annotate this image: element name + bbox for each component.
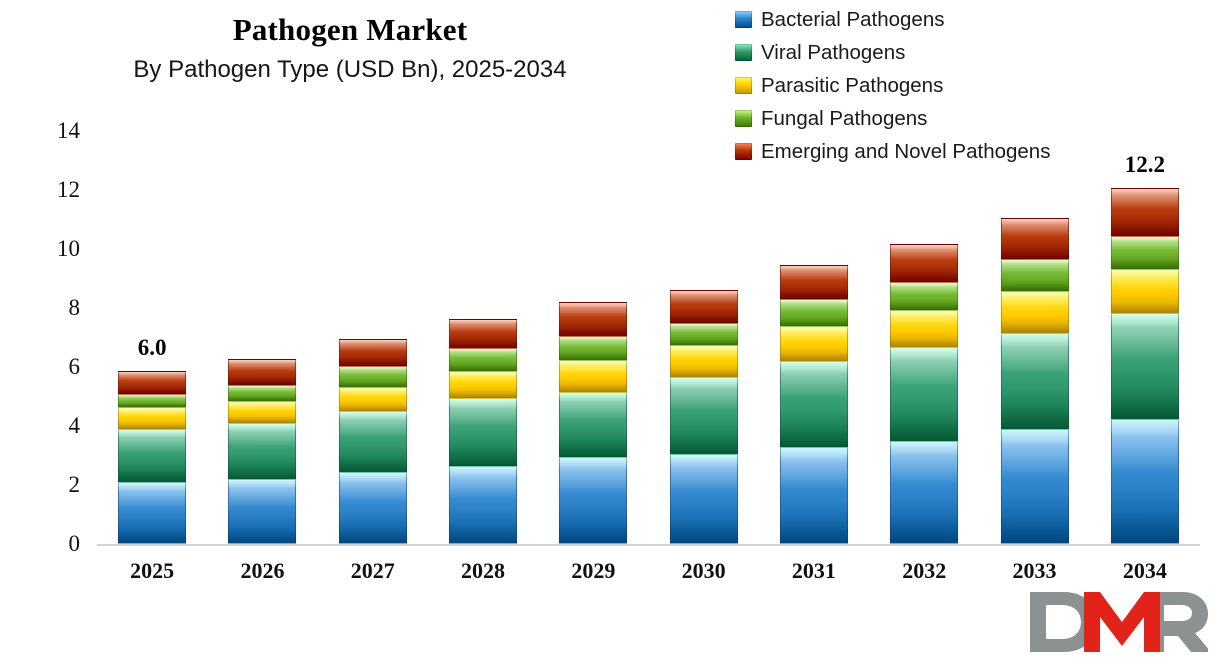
legend-label: Bacterial Pathogens bbox=[761, 8, 944, 32]
plot-area: 6.012.2 bbox=[97, 131, 1200, 544]
x-axis-tick-label: 2034 bbox=[1090, 558, 1200, 584]
bar-segment[interactable] bbox=[228, 385, 296, 403]
y-axis-tick-label: 8 bbox=[20, 295, 80, 321]
bar-segment[interactable] bbox=[118, 482, 186, 544]
bar-column[interactable] bbox=[869, 131, 979, 544]
bar-segment[interactable] bbox=[228, 479, 296, 544]
bar-segment[interactable] bbox=[339, 411, 407, 473]
bar-segment[interactable] bbox=[780, 265, 848, 300]
bar-column[interactable] bbox=[318, 131, 428, 544]
bar-segment[interactable] bbox=[449, 371, 517, 399]
legend-item[interactable]: Bacterial Pathogens bbox=[735, 8, 1050, 31]
bar-segment[interactable] bbox=[780, 361, 848, 448]
bar-segment[interactable] bbox=[339, 366, 407, 388]
bar-segment[interactable] bbox=[1111, 269, 1179, 315]
x-axis-tick-label: 2029 bbox=[538, 558, 648, 584]
bar-segment[interactable] bbox=[670, 323, 738, 347]
bar-segment[interactable] bbox=[1001, 333, 1069, 430]
stacked-bar[interactable] bbox=[449, 320, 517, 544]
legend-label: Viral Pathogens bbox=[761, 41, 905, 65]
bar-column[interactable] bbox=[207, 131, 317, 544]
bar-column[interactable]: 6.0 bbox=[97, 131, 207, 544]
bar-segment[interactable] bbox=[339, 339, 407, 367]
legend-swatch-icon bbox=[735, 44, 752, 61]
bar-segment[interactable] bbox=[449, 466, 517, 544]
bar-segment[interactable] bbox=[1111, 313, 1179, 419]
bar-column[interactable] bbox=[980, 131, 1090, 544]
bar-column[interactable] bbox=[538, 131, 648, 544]
bar-segment[interactable] bbox=[780, 447, 848, 544]
stacked-bar[interactable] bbox=[1001, 219, 1069, 544]
stacked-bar[interactable] bbox=[670, 291, 738, 544]
bar-column[interactable] bbox=[649, 131, 759, 544]
bar-segment[interactable] bbox=[670, 454, 738, 544]
bar-segment[interactable] bbox=[780, 326, 848, 361]
x-axis-tick-label: 2025 bbox=[97, 558, 207, 584]
bar-segment[interactable] bbox=[1001, 218, 1069, 261]
bar-segment[interactable] bbox=[449, 348, 517, 372]
bar-segment[interactable] bbox=[670, 290, 738, 324]
bar-segment[interactable] bbox=[559, 336, 627, 361]
legend-swatch-icon bbox=[735, 11, 752, 28]
y-axis-tick-label: 4 bbox=[20, 413, 80, 439]
bar-segment[interactable] bbox=[228, 401, 296, 423]
bar-segment[interactable] bbox=[780, 299, 848, 327]
legend-label: Fungal Pathogens bbox=[761, 107, 927, 131]
bar-column[interactable]: 12.2 bbox=[1090, 131, 1200, 544]
bar-segment[interactable] bbox=[1111, 419, 1179, 544]
chart-title: Pathogen Market bbox=[0, 12, 700, 48]
legend-item[interactable]: Fungal Pathogens bbox=[735, 107, 1050, 130]
bar-segment[interactable] bbox=[1001, 291, 1069, 334]
bar-segment[interactable] bbox=[890, 310, 958, 348]
y-axis-tick-label: 0 bbox=[20, 531, 80, 557]
x-axis-line bbox=[97, 544, 1200, 546]
bar-segment[interactable] bbox=[118, 394, 186, 409]
bar-group: 6.012.2 bbox=[97, 131, 1200, 544]
stacked-bar[interactable] bbox=[890, 245, 958, 544]
x-axis-tick-label: 2027 bbox=[318, 558, 428, 584]
y-axis-tick-label: 12 bbox=[20, 177, 80, 203]
bar-segment[interactable] bbox=[890, 441, 958, 544]
bar-segment[interactable] bbox=[228, 423, 296, 481]
bar-segment[interactable] bbox=[670, 345, 738, 377]
legend-item[interactable]: Viral Pathogens bbox=[735, 41, 1050, 64]
bar-segment[interactable] bbox=[559, 457, 627, 544]
legend-item[interactable]: Parasitic Pathogens bbox=[735, 74, 1050, 97]
legend-swatch-icon bbox=[735, 110, 752, 127]
bar-column[interactable] bbox=[759, 131, 869, 544]
bar-segment[interactable] bbox=[118, 371, 186, 395]
bar-value-label: 12.2 bbox=[1125, 152, 1165, 178]
x-axis-label-group: 2025202620272028202920302031203220332034 bbox=[97, 556, 1200, 586]
bar-segment[interactable] bbox=[449, 319, 517, 349]
bar-segment[interactable] bbox=[1001, 259, 1069, 291]
bar-segment[interactable] bbox=[1001, 429, 1069, 544]
bar-segment[interactable] bbox=[559, 392, 627, 458]
bar-segment[interactable] bbox=[228, 359, 296, 386]
x-axis-tick-label: 2032 bbox=[869, 558, 979, 584]
y-axis-tick-label: 2 bbox=[20, 472, 80, 498]
bar-segment[interactable] bbox=[1111, 188, 1179, 237]
y-axis-tick-label: 6 bbox=[20, 354, 80, 380]
stacked-bar[interactable] bbox=[780, 266, 848, 544]
chart-subtitle: By Pathogen Type (USD Bn), 2025-2034 bbox=[0, 56, 700, 84]
stacked-bar[interactable] bbox=[1111, 189, 1179, 544]
bar-segment[interactable] bbox=[670, 377, 738, 455]
bar-segment[interactable] bbox=[890, 347, 958, 441]
bar-segment[interactable] bbox=[1111, 236, 1179, 270]
stacked-bar[interactable] bbox=[118, 372, 186, 544]
bar-segment[interactable] bbox=[118, 429, 186, 484]
legend-label: Parasitic Pathogens bbox=[761, 74, 943, 98]
y-axis-tick-label: 10 bbox=[20, 236, 80, 262]
bar-column[interactable] bbox=[428, 131, 538, 544]
stacked-bar[interactable] bbox=[339, 340, 407, 544]
bar-segment[interactable] bbox=[449, 398, 517, 467]
chart-canvas: Pathogen Market By Pathogen Type (USD Bn… bbox=[0, 0, 1216, 663]
bar-segment[interactable] bbox=[890, 282, 958, 312]
x-axis-tick-label: 2028 bbox=[428, 558, 538, 584]
bar-segment[interactable] bbox=[118, 407, 186, 429]
bar-value-label: 6.0 bbox=[138, 335, 167, 361]
y-axis-tick-label: 14 bbox=[20, 118, 80, 144]
bar-segment[interactable] bbox=[339, 387, 407, 412]
bar-segment[interactable] bbox=[559, 302, 627, 337]
x-axis-tick-label: 2026 bbox=[207, 558, 317, 584]
stacked-bar[interactable] bbox=[228, 360, 296, 544]
x-axis-tick-label: 2030 bbox=[649, 558, 759, 584]
bar-segment[interactable] bbox=[890, 244, 958, 282]
stacked-bar[interactable] bbox=[559, 303, 627, 544]
bar-segment[interactable] bbox=[339, 472, 407, 544]
legend-swatch-icon bbox=[735, 77, 752, 94]
bar-segment[interactable] bbox=[559, 360, 627, 392]
dmr-watermark-logo bbox=[1028, 588, 1208, 656]
x-axis-tick-label: 2033 bbox=[980, 558, 1090, 584]
x-axis-tick-label: 2031 bbox=[759, 558, 869, 584]
